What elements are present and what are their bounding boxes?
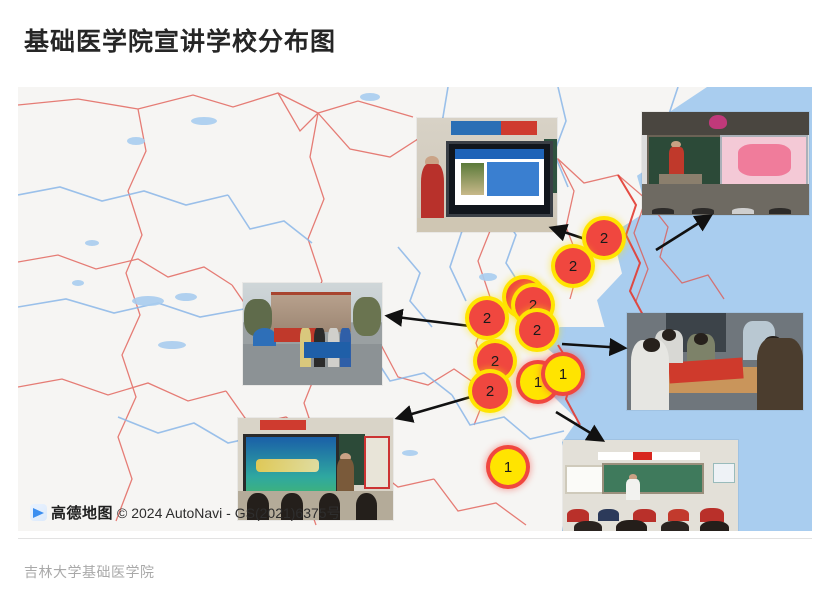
photo-student-head bbox=[661, 521, 689, 531]
amap-logo-icon bbox=[30, 504, 47, 521]
photo-student bbox=[668, 509, 689, 521]
photo-red-display bbox=[274, 328, 318, 342]
footer-divider bbox=[18, 538, 812, 539]
map-marker-yellow-1[interactable]: 1 bbox=[545, 356, 581, 392]
photo-outdoor-group-banner[interactable] bbox=[243, 283, 382, 385]
photo-student-head bbox=[616, 520, 648, 531]
map-marker-yellow-1[interactable]: 1 bbox=[490, 449, 526, 485]
photo-desk bbox=[417, 218, 557, 232]
photo-student-head bbox=[356, 493, 378, 520]
photo-podium bbox=[659, 174, 702, 184]
map-provider-brand: 高德地图 bbox=[51, 502, 113, 523]
map-marker-red-2[interactable]: 2 bbox=[472, 373, 508, 409]
photo-classroom-red-uniform[interactable] bbox=[563, 440, 738, 531]
photo-student-head bbox=[652, 208, 674, 214]
photo-emblem bbox=[709, 115, 727, 129]
photo-student-head bbox=[694, 333, 708, 345]
photo-projection-screen bbox=[720, 135, 808, 186]
photo-slide-image bbox=[461, 163, 484, 195]
photo-slide-text bbox=[487, 162, 538, 196]
photo-projection-content bbox=[738, 144, 791, 175]
photo-student-head bbox=[769, 208, 791, 214]
photo-screen-title bbox=[256, 459, 319, 472]
photo-student-head bbox=[643, 338, 661, 352]
photo-slide-header bbox=[455, 149, 544, 159]
photo-audience bbox=[563, 487, 738, 531]
photo-student-head bbox=[700, 521, 730, 531]
photo-flag bbox=[633, 452, 652, 461]
photo-notice-board bbox=[364, 436, 390, 489]
photo-audience bbox=[642, 184, 809, 215]
photo-student bbox=[700, 508, 725, 522]
page-title: 基础医学院宣讲学校分布图 bbox=[24, 22, 336, 58]
photo-presentation-screen bbox=[243, 434, 339, 497]
photo-students-poster-table[interactable] bbox=[627, 313, 803, 410]
photo-teacher-body bbox=[669, 147, 684, 174]
photo-student-head bbox=[574, 521, 602, 531]
map-marker-red-2[interactable]: 2 bbox=[586, 220, 622, 256]
map-marker-red-2[interactable]: 2 bbox=[519, 312, 555, 348]
photo-person-body bbox=[421, 164, 443, 223]
footer-organization: 吉林大学基础医学院 bbox=[24, 562, 155, 582]
photo-student bbox=[598, 509, 619, 521]
photo-red-sign bbox=[260, 420, 307, 430]
map-marker-red-2[interactable]: 2 bbox=[469, 300, 505, 336]
photo-wall-poster bbox=[713, 463, 734, 482]
photo-tree bbox=[353, 297, 381, 336]
photo-smartboard bbox=[446, 141, 553, 218]
map-attribution: 高德地图 © 2024 AutoNavi - GS(2021)6375号 bbox=[30, 502, 341, 523]
photo-student-head bbox=[692, 208, 714, 214]
map-canvas[interactable]: 22222222111 高德地图 © 2024 AutoNavi - GS(20… bbox=[18, 87, 812, 531]
photo-banner bbox=[451, 121, 538, 135]
photo-student bbox=[757, 338, 803, 410]
photo-classroom-smartboard[interactable] bbox=[417, 118, 557, 232]
photo-slide bbox=[455, 149, 544, 204]
map-marker-red-2[interactable]: 2 bbox=[555, 248, 591, 284]
photo-school-building bbox=[271, 295, 352, 332]
photo-banner bbox=[304, 342, 350, 358]
photo-student-head bbox=[732, 208, 754, 214]
photo-classroom-blackboard-projection[interactable] bbox=[642, 112, 809, 215]
photo-student bbox=[567, 509, 590, 522]
map-copyright: © 2024 AutoNavi - GS(2021)6375号 bbox=[117, 503, 341, 523]
